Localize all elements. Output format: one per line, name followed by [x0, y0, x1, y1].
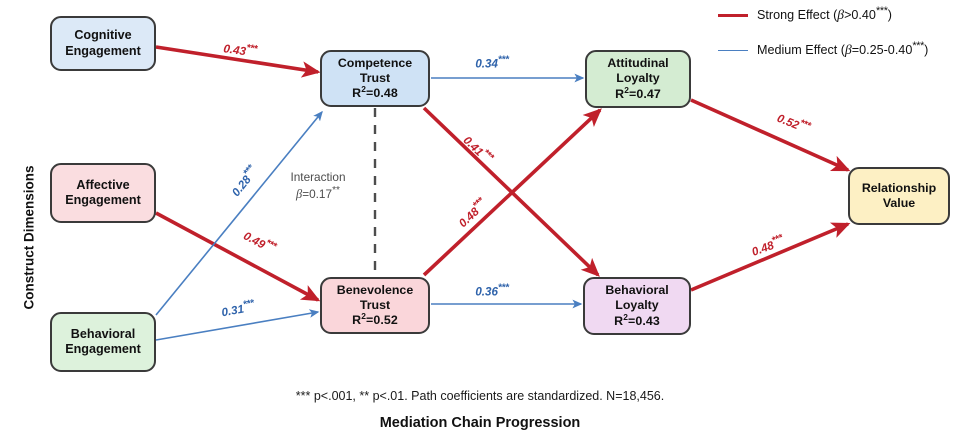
- path-label-behavioral-to-benevolence: 0.31***: [220, 301, 255, 320]
- legend-item-label: Strong Effect (β>0.40***): [757, 7, 892, 23]
- node-affective-engagement[interactable]: AffectiveEngagement: [50, 163, 156, 223]
- node-r-squared: R2=0.47: [615, 87, 661, 102]
- coefficient-value: 0.43: [223, 42, 247, 58]
- node-label-line1: Behavioral: [605, 283, 668, 298]
- significance-stars: ***: [498, 55, 509, 66]
- path-label-benevolence-to-attitudinal: 0.48***: [456, 198, 489, 230]
- coefficient-value: 0.34: [475, 58, 498, 71]
- node-behavioral-loyalty[interactable]: BehavioralLoyaltyR2=0.43: [583, 277, 691, 335]
- legend-text-post: >0.40: [844, 8, 876, 22]
- significance-stars: ***: [498, 283, 509, 294]
- path-behavioral-to-competence: [156, 112, 322, 315]
- node-benevolence-trust[interactable]: BenevolenceTrustR2=0.52: [320, 277, 430, 334]
- legend-text-end: ): [924, 43, 928, 57]
- r-squared-value: 0.47: [636, 87, 661, 101]
- coefficient-value: 0.52: [775, 112, 801, 133]
- significance-stars: ***: [242, 298, 254, 311]
- node-label-line1: Affective: [76, 178, 129, 193]
- node-label-line1: Behavioral: [71, 327, 135, 342]
- coefficient-value: 0.31: [220, 303, 244, 320]
- path-label-cognitive-to-competence: 0.43***: [223, 42, 258, 60]
- node-relationship-value[interactable]: RelationshipValue: [848, 167, 950, 225]
- path-label-behavioral-to-value: 0.48***: [750, 235, 786, 259]
- legend-stars: ***: [876, 5, 888, 17]
- node-label-line2: Engagement: [65, 342, 141, 357]
- sem-diagram: Construct Dimensions Mediation Chain Pro…: [0, 0, 960, 438]
- node-label-line1: Benevolence: [337, 283, 413, 298]
- legend-text-end: ): [888, 8, 892, 22]
- node-competence-trust[interactable]: CompetenceTrustR2=0.48: [320, 50, 430, 107]
- node-label-line2: Engagement: [65, 193, 141, 208]
- coefficient-value: 0.36: [475, 286, 498, 299]
- path-attitudinal-to-value: [691, 100, 848, 170]
- significance-stars: ***: [770, 233, 784, 247]
- interaction-value: =0.17: [302, 187, 332, 201]
- interaction-label: Interactionβ=0.17**: [290, 170, 345, 202]
- significance-stars: ***: [246, 43, 258, 55]
- legend-text-pre: Strong Effect (: [757, 8, 837, 22]
- path-competence-to-behavioral: [424, 108, 598, 275]
- legend-text-pre: Medium Effect (: [757, 43, 845, 57]
- node-label-line2: Loyalty: [615, 298, 658, 313]
- legend-item-medium-effect: Medium Effect (β=0.25-0.40***): [718, 42, 928, 58]
- r-squared-value: 0.52: [373, 313, 398, 327]
- path-label-behavioral-to-competence: 0.28***: [229, 165, 260, 199]
- beta-symbol: β: [845, 42, 852, 57]
- path-label-benevolence-to-behavioral: 0.36***: [475, 286, 508, 299]
- r-squared-value: 0.43: [635, 314, 660, 328]
- legend-stars: ***: [912, 40, 924, 52]
- node-label-line2: Value: [883, 196, 915, 211]
- interaction-beta: β=0.17**: [290, 186, 345, 203]
- node-label-line2: Engagement: [65, 44, 141, 59]
- path-label-competence-to-behavioral: 0.41***: [460, 134, 493, 167]
- legend-item-label: Medium Effect (β=0.25-0.40***): [757, 42, 928, 58]
- path-label-attitudinal-to-value: 0.52***: [775, 112, 811, 137]
- node-label-line1: Cognitive: [74, 28, 131, 43]
- y-axis-title: Construct Dimensions: [22, 153, 37, 323]
- path-behavioral-to-value: [691, 224, 848, 290]
- node-cognitive-engagement[interactable]: CognitiveEngagement: [50, 16, 156, 71]
- node-label-line2: Loyalty: [616, 71, 659, 86]
- node-r-squared: R2=0.43: [614, 314, 660, 329]
- node-r-squared: R2=0.48: [352, 86, 398, 101]
- legend-line-swatch: [718, 14, 748, 17]
- r-squared-value: 0.48: [373, 86, 398, 100]
- legend-item-strong-effect: Strong Effect (β>0.40***): [718, 7, 928, 23]
- node-label-line1: Competence: [338, 56, 412, 71]
- node-attitudinal-loyalty[interactable]: AttitudinalLoyaltyR2=0.47: [585, 50, 691, 108]
- path-label-competence-to-attitudinal: 0.34***: [475, 58, 508, 71]
- coefficient-value: 0.49: [241, 229, 267, 251]
- node-label-line1: Relationship: [862, 181, 936, 196]
- node-label-line1: Attitudinal: [607, 56, 668, 71]
- path-benevolence-to-attitudinal: [424, 110, 600, 275]
- footnote: *** p<.001, ** p<.01. Path coefficients …: [0, 389, 960, 403]
- path-affective-to-benevolence: [156, 213, 318, 300]
- interaction-stars: **: [332, 185, 340, 196]
- legend-line-swatch: [718, 50, 748, 51]
- node-r-squared: R2=0.52: [352, 313, 398, 328]
- legend-text-post: =0.25-0.40: [852, 43, 913, 57]
- path-label-affective-to-benevolence: 0.49***: [241, 229, 277, 256]
- legend: Strong Effect (β>0.40***)Medium Effect (…: [718, 7, 928, 58]
- significance-stars: ***: [798, 118, 812, 132]
- x-axis-title: Mediation Chain Progression: [0, 415, 960, 431]
- interaction-title: Interaction: [290, 170, 345, 186]
- node-behavioral-engagement[interactable]: BehavioralEngagement: [50, 312, 156, 372]
